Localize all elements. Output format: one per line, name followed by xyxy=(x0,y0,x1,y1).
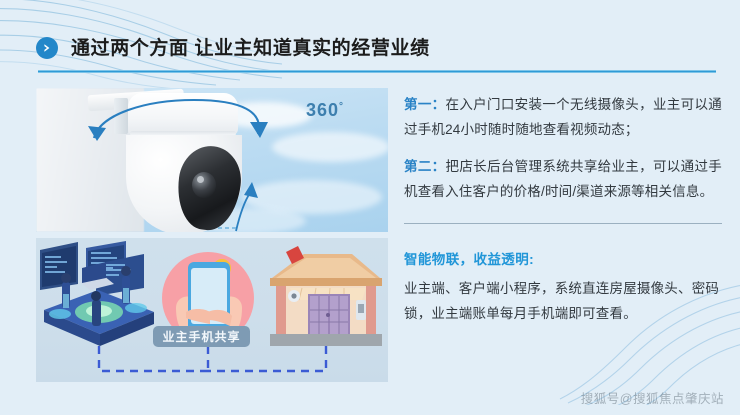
paragraph-lead: 第二： xyxy=(404,159,446,174)
paragraph-first: 第一：在入户门口安装一个无线摄像头，业主可以通过手机24小时随时随地查看视频动态… xyxy=(404,92,722,142)
share-badge: 业主手机共享 xyxy=(153,326,250,347)
degree-value: 360 xyxy=(306,100,339,120)
paragraph-body: 把店长后台管理系统共享给业主，可以通过手机查看入住客户的价格/时间/渠道来源等相… xyxy=(404,159,722,199)
degree-unit: ° xyxy=(339,101,344,112)
watermark: 搜狐号@搜狐焦点肇庆站 xyxy=(581,388,724,407)
media-column: 360° xyxy=(36,88,388,382)
paragraph-second: 第二：把店长后台管理系统共享给业主，可以通过手机查看入住客户的价格/时间/渠道来… xyxy=(404,154,722,204)
page-header: 通过两个方面 让业主知道真实的经营业绩 xyxy=(36,34,716,78)
page-title: 通过两个方面 让业主知道真实的经营业绩 xyxy=(71,39,430,58)
chevron-right-circle-icon xyxy=(36,37,58,59)
workflow-illustration: 业主手机共享 xyxy=(36,238,388,382)
rotation-degree-label: 360° xyxy=(306,100,344,121)
sub-section-body: 业主端、客户端小程序，系统直连房屋摄像头、密码锁，业主端账单每月手机端即可查看。 xyxy=(404,276,722,326)
title-underline xyxy=(38,70,716,73)
content-column: 第一：在入户门口安装一个无线摄像头，业主可以通过手机24小时随时随地查看视频动态… xyxy=(404,92,722,326)
paragraph-body: 在入户门口安装一个无线摄像头，业主可以通过手机24小时随时随地查看视频动态； xyxy=(404,97,722,137)
sub-section-heading: 智能物联，收益透明: xyxy=(404,249,722,271)
sub-section: 智能物联，收益透明: 业主端、客户端小程序，系统直连房屋摄像头、密码锁，业主端账… xyxy=(404,249,722,326)
monitoring-room-scene xyxy=(40,241,154,346)
section-divider xyxy=(404,223,722,224)
camera-photo: 360° xyxy=(36,88,388,232)
paragraph-lead: 第一： xyxy=(404,97,446,112)
storefront-scene xyxy=(270,246,382,346)
illustration-graphics xyxy=(36,238,388,382)
